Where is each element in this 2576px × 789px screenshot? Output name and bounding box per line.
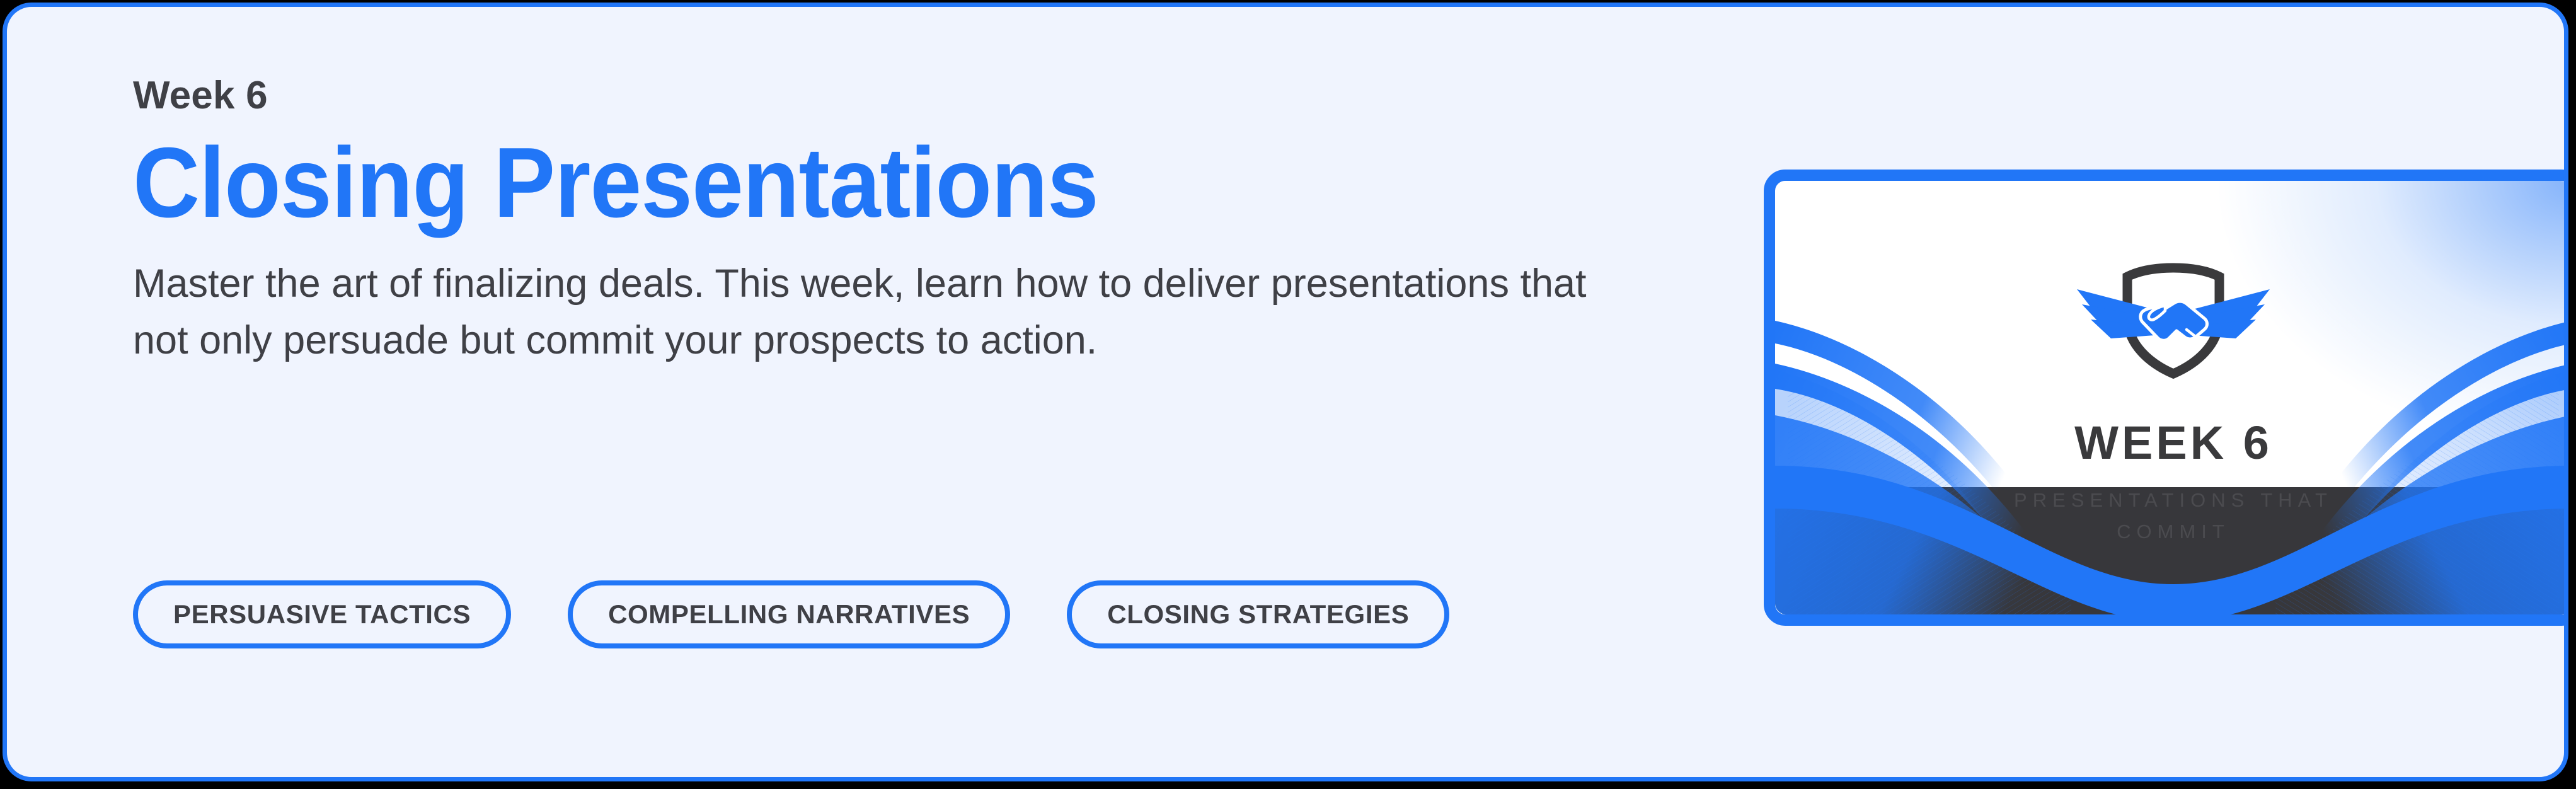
topic-tag-row: PERSUASIVE TACTICS COMPELLING NARRATIVES… bbox=[133, 580, 1449, 648]
card-subtitle: PRESENTATIONS THAT COMMIT bbox=[1972, 485, 2375, 547]
banner-text-column: Week 6 Closing Presentations Master the … bbox=[133, 75, 1620, 369]
winged-shield-handshake-icon bbox=[2069, 256, 2277, 379]
week-eyebrow-label: Week 6 bbox=[133, 75, 1620, 116]
banner-description: Master the art of finalizing deals. This… bbox=[133, 255, 1595, 369]
page-title: Closing Presentations bbox=[133, 132, 1516, 234]
card-title: WEEK 6 bbox=[2074, 416, 2272, 469]
topic-tag-closing-strategies[interactable]: CLOSING STRATEGIES bbox=[1067, 580, 1449, 648]
week-banner: Week 6 Closing Presentations Master the … bbox=[3, 3, 2568, 781]
card-frame: WEEK 6 PRESENTATIONS THAT COMMIT bbox=[1764, 170, 2568, 626]
card-content: WEEK 6 PRESENTATIONS THAT COMMIT bbox=[1775, 256, 2568, 547]
card-canvas: WEEK 6 PRESENTATIONS THAT COMMIT bbox=[1775, 181, 2568, 614]
topic-tag-persuasive-tactics[interactable]: PERSUASIVE TACTICS bbox=[133, 580, 511, 648]
topic-tag-compelling-narratives[interactable]: COMPELLING NARRATIVES bbox=[568, 580, 1010, 648]
week-cover-card[interactable]: WEEK 6 PRESENTATIONS THAT COMMIT bbox=[1764, 170, 2568, 626]
